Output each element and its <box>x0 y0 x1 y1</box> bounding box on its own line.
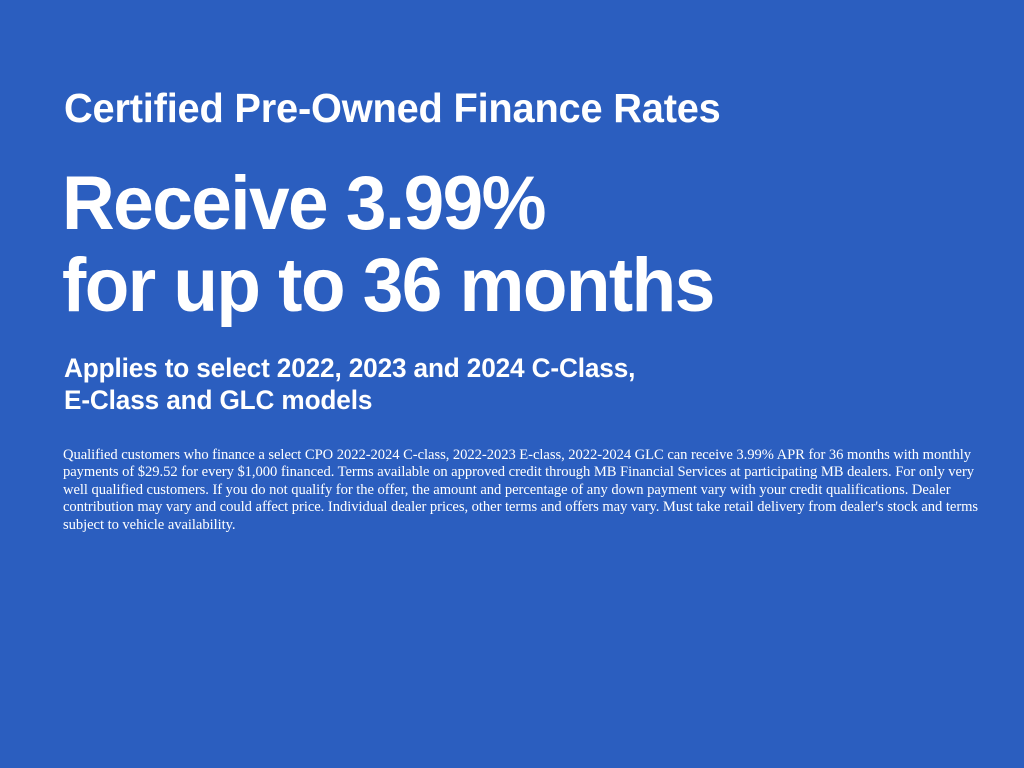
legal-disclaimer: Qualified customers who finance a select… <box>63 447 979 535</box>
eligibility-subheading: Applies to select 2022, 2023 and 2024 C-… <box>64 352 635 416</box>
offer-line-term: for up to 36 months <box>62 245 714 327</box>
offer-statement: Receive 3.99% for up to 36 months <box>62 163 714 327</box>
page-title: Certified Pre-Owned Finance Rates <box>64 82 721 134</box>
eligibility-line-2: E-Class and GLC models <box>64 384 635 416</box>
promotional-banner: Certified Pre-Owned Finance Rates Receiv… <box>0 0 1024 768</box>
offer-line-rate: Receive 3.99% <box>62 163 714 245</box>
eligibility-line-1: Applies to select 2022, 2023 and 2024 C-… <box>64 352 635 384</box>
